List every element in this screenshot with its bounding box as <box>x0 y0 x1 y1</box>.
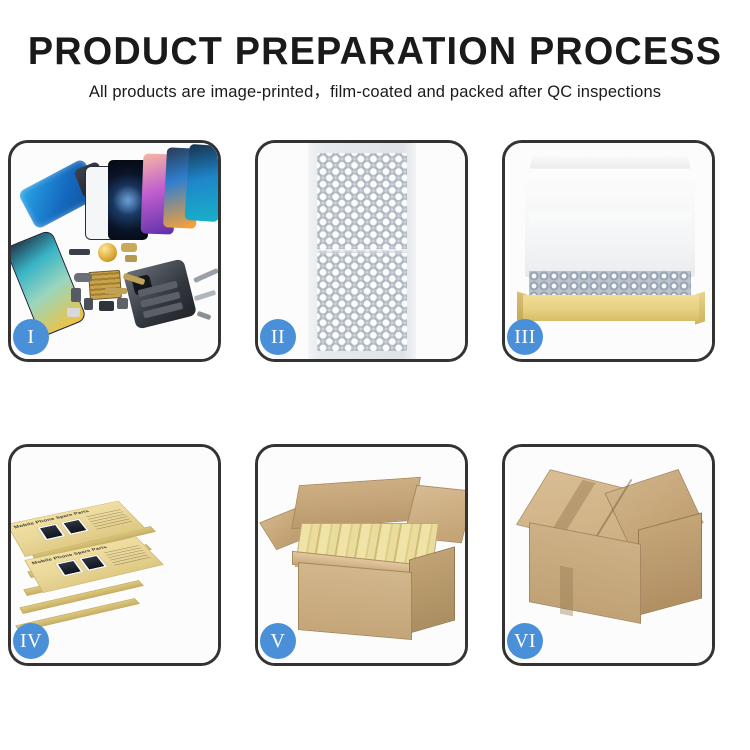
small-part <box>71 288 81 302</box>
small-part <box>197 311 212 320</box>
process-step-panel-6[interactable]: VI <box>502 444 715 666</box>
phone-back-housing <box>123 258 197 329</box>
step-badge-1: I <box>13 319 49 355</box>
small-part <box>69 249 90 255</box>
process-step-grid: I II III <box>8 140 742 666</box>
process-step-panel-5[interactable]: V <box>255 444 468 666</box>
small-part <box>121 243 137 252</box>
sealed-carton-side <box>638 512 702 615</box>
page-subtitle: All products are image-printed，film-coat… <box>0 81 750 103</box>
connector-chip <box>88 270 122 300</box>
process-step-panel-1[interactable]: I <box>8 140 221 362</box>
page-header: PRODUCT PREPARATION PROCESS All products… <box>0 0 750 103</box>
small-part <box>99 301 114 311</box>
small-part <box>105 288 127 294</box>
carton-front-panel <box>298 562 412 640</box>
speaker-component <box>98 243 117 262</box>
bubble-wrap-bag <box>308 143 416 359</box>
small-part <box>117 298 128 309</box>
carton-tape-front <box>560 566 573 617</box>
small-part <box>125 255 137 262</box>
process-step-panel-3[interactable]: III <box>502 140 715 362</box>
small-part <box>193 268 218 283</box>
step-badge-5: V <box>260 623 296 659</box>
small-part <box>194 290 216 302</box>
stacked-retail-boxes: Mobile Phone Spare Parts Mobile Phone Sp… <box>17 471 217 651</box>
step-badge-2: II <box>260 319 296 355</box>
bag-seal <box>317 249 407 253</box>
phone-cyan-gradient <box>184 144 218 222</box>
step-badge-3: III <box>507 319 543 355</box>
carton-side-panel <box>409 546 455 633</box>
inner-box-front-panel <box>523 295 699 321</box>
process-step-panel-4[interactable]: Mobile Phone Spare Parts Mobile Phone Sp… <box>8 444 221 666</box>
foam-insert <box>529 213 691 271</box>
step-badge-4: IV <box>13 623 49 659</box>
process-step-panel-2[interactable]: II <box>255 140 468 362</box>
small-part <box>67 308 80 317</box>
box-spec-lines <box>84 507 132 529</box>
small-part <box>84 298 93 310</box>
bubble-wrapped-contents <box>529 271 691 297</box>
small-part <box>74 273 92 282</box>
step-badge-6: VI <box>507 623 543 659</box>
page-title: PRODUCT PREPARATION PROCESS <box>11 30 739 74</box>
box-spec-lines <box>102 543 150 565</box>
carton-flap-back <box>291 477 421 529</box>
